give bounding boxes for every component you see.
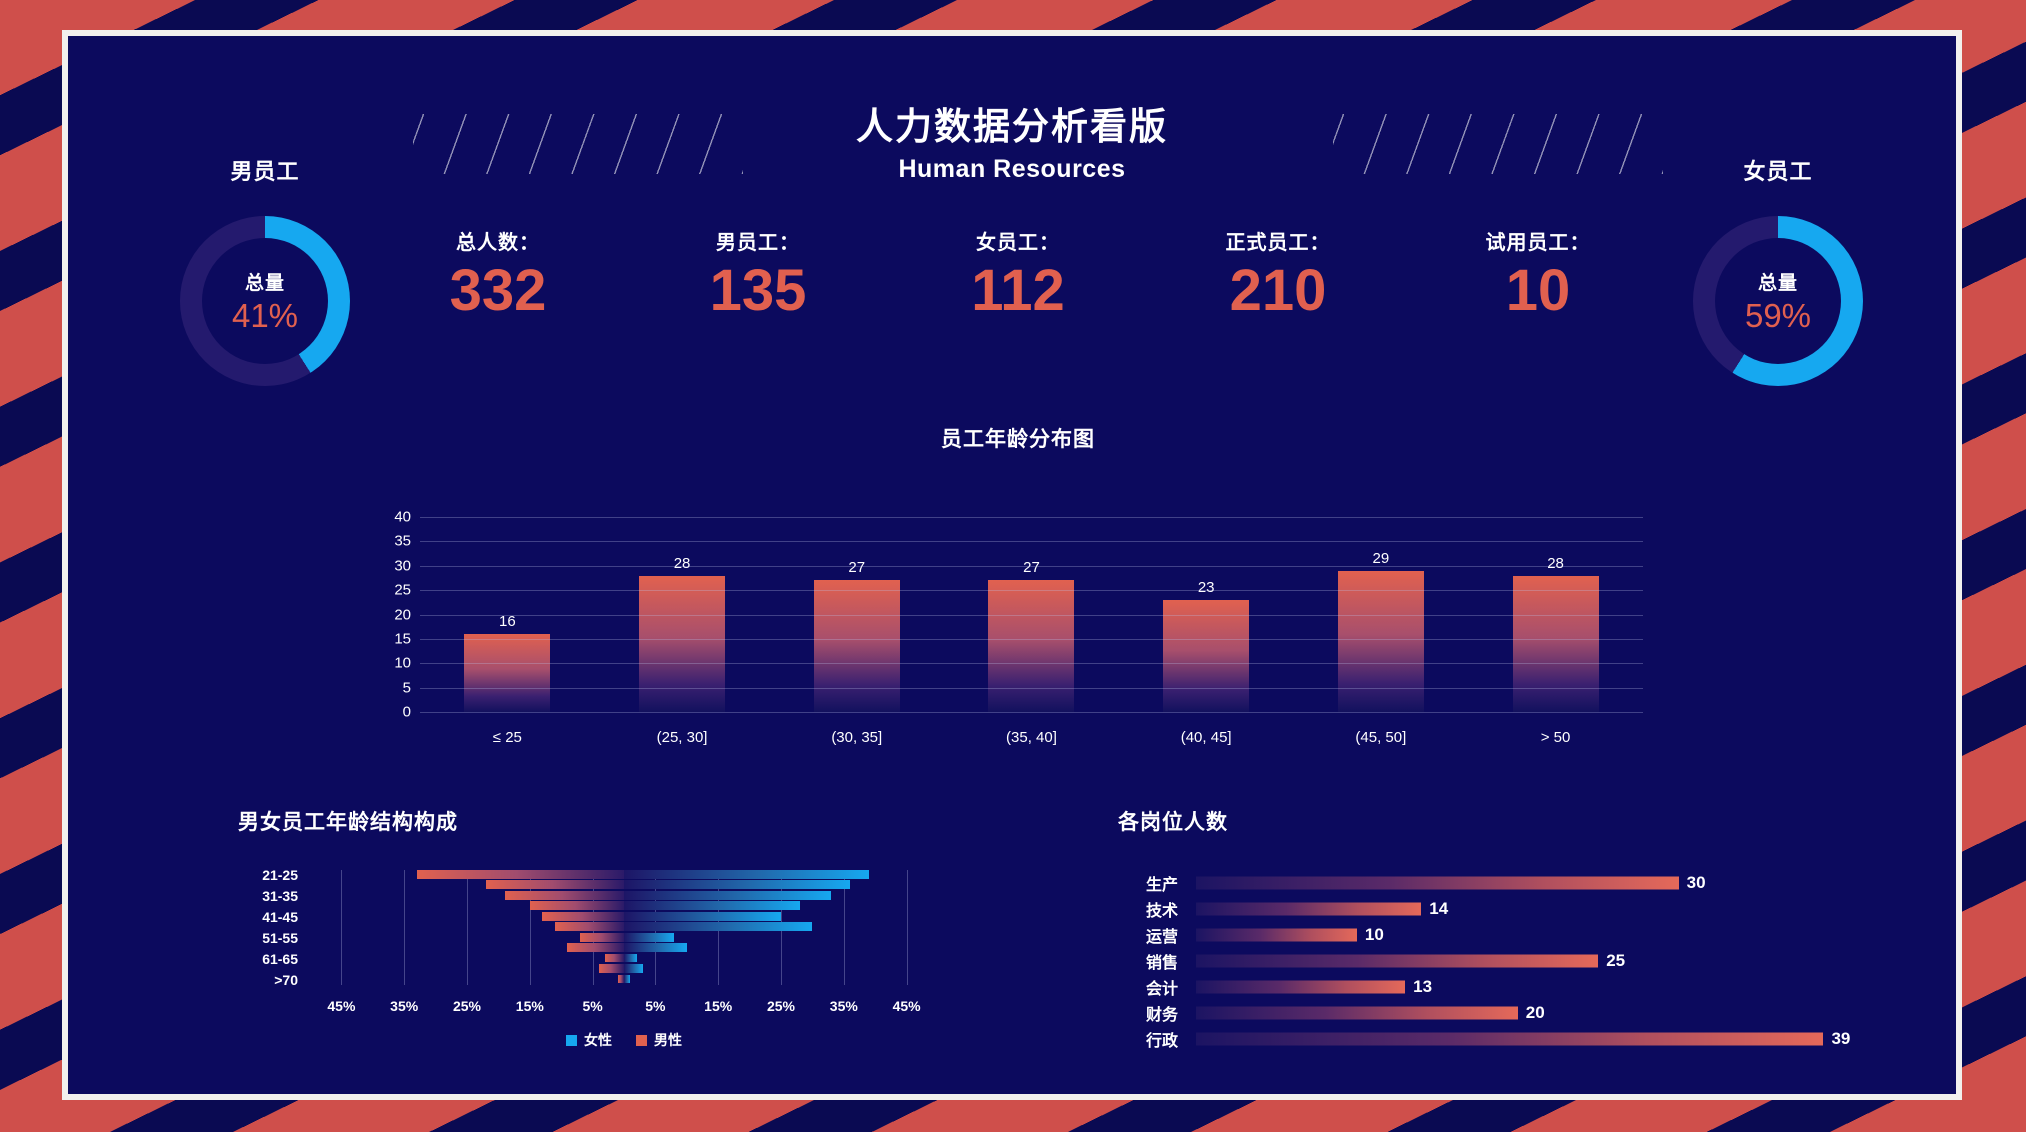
jobs-bar-value: 10 [1365, 925, 1384, 945]
age-chart-bar-value: 23 [1139, 579, 1274, 596]
jobs-row: 技术14 [1118, 896, 1878, 922]
age-chart-bar[interactable] [988, 580, 1074, 712]
age-chart-x-label: (25, 30] [615, 729, 750, 746]
age-chart-y-tick: 25 [394, 582, 411, 599]
pyramid-legend-item[interactable]: 男性 [636, 1030, 682, 1050]
kpi-item-3: 正式员工：210 [1148, 226, 1408, 323]
jobs-bar-value: 13 [1413, 977, 1432, 997]
age-chart-bar[interactable] [639, 576, 725, 713]
age-chart-y-tick: 20 [394, 606, 411, 623]
pyramid-x-tick: 35% [830, 998, 858, 1014]
pyramid-bar-female[interactable] [624, 891, 831, 900]
age-structure-pyramid: 男女员工年龄结构构成 21-2531-3541-4551-5561-65>70 … [238, 806, 938, 985]
age-chart-x-label: (45, 50] [1314, 729, 1449, 746]
jobs-title: 各岗位人数 [1118, 806, 1878, 836]
pyramid-row [310, 891, 938, 900]
pyramid-row-label: 51-55 [262, 930, 298, 946]
age-chart-x-label: > 50 [1488, 729, 1623, 746]
jobs-bar-track: 14 [1196, 896, 1878, 922]
legend-label: 女性 [584, 1030, 612, 1050]
pyramid-x-tick: 15% [704, 998, 732, 1014]
jobs-bar-value: 20 [1526, 1003, 1545, 1023]
gauge-male-value: 41% [232, 297, 298, 335]
pyramid-bar-male[interactable] [567, 943, 624, 952]
age-chart-bar[interactable] [1513, 576, 1599, 713]
jobs-bar[interactable] [1196, 903, 1421, 916]
pyramid-plot [310, 870, 938, 985]
age-chart-bar-value: 28 [615, 555, 750, 572]
age-chart-x-label: (35, 40] [964, 729, 1099, 746]
pyramid-row-label: 21-25 [262, 867, 298, 883]
jobs-row: 销售25 [1118, 948, 1878, 974]
jobs-category-label: 财务 [1118, 1001, 1178, 1025]
kpi-value: 112 [888, 259, 1148, 323]
jobs-bar-track: 10 [1196, 922, 1878, 948]
jobs-bar-track: 30 [1196, 870, 1878, 896]
pyramid-bar-female[interactable] [624, 975, 630, 984]
jobs-bar[interactable] [1196, 1033, 1823, 1046]
pyramid-bar-female[interactable] [624, 912, 781, 921]
gauge-male-title: 男员工 [150, 154, 380, 186]
pyramid-row [310, 922, 938, 931]
pyramid-row [310, 870, 938, 879]
pyramid-title: 男女员工年龄结构构成 [238, 806, 938, 836]
kpi-item-1: 男员工：135 [628, 226, 888, 323]
pyramid-body: 21-2531-3541-4551-5561-65>70 45%35%25%15… [238, 870, 938, 985]
pyramid-legend: 女性男性 [310, 1030, 938, 1050]
pyramid-row [310, 943, 938, 952]
age-chart-bar-value: 29 [1314, 550, 1449, 567]
jobs-bar[interactable] [1196, 981, 1405, 994]
jobs-bar-value: 14 [1429, 899, 1448, 919]
pyramid-row [310, 933, 938, 942]
age-chart-x-label: (40, 45] [1139, 729, 1274, 746]
legend-label: 男性 [654, 1030, 682, 1050]
kpi-label: 总人数： [368, 226, 628, 255]
pyramid-bar-female[interactable] [624, 954, 637, 963]
jobs-row: 行政39 [1118, 1026, 1878, 1052]
legend-swatch [636, 1035, 647, 1046]
pyramid-row [310, 912, 938, 921]
kpi-row: 总人数：332男员工：135女员工：112正式员工：210试用员工：10 [368, 226, 1668, 323]
age-chart-bar-value: 27 [790, 559, 925, 576]
pyramid-row [310, 901, 938, 910]
pyramid-bar-male[interactable] [505, 891, 624, 900]
pyramid-x-tick: 25% [767, 998, 795, 1014]
pyramid-row-labels: 21-2531-3541-4551-5561-65>70 [238, 870, 298, 985]
age-chart-gridline [420, 566, 1643, 567]
pyramid-row [310, 964, 938, 973]
kpi-item-0: 总人数：332 [368, 226, 628, 323]
kpi-value: 210 [1148, 259, 1408, 323]
pyramid-row [310, 954, 938, 963]
jobs-bar-value: 39 [1831, 1029, 1850, 1049]
pyramid-x-axis: 45%35%25%15%5%5%15%25%35%45% [310, 998, 938, 1020]
gauge-female-ring: 总量 59% [1693, 216, 1863, 386]
age-chart-bar[interactable] [464, 634, 550, 712]
kpi-value: 135 [628, 259, 888, 323]
jobs-bar[interactable] [1196, 929, 1357, 942]
jobs-bar-track: 25 [1196, 948, 1878, 974]
age-chart-bar[interactable] [1338, 571, 1424, 712]
pyramid-row [310, 975, 938, 984]
age-distribution-chart: 员工年龄分布图 16≤ 2528(25, 30]27(30, 35]27(35,… [368, 461, 1668, 711]
pyramid-bar-male[interactable] [599, 964, 624, 973]
kpi-label: 女员工： [888, 226, 1148, 255]
age-chart-x-label: (30, 35] [790, 729, 925, 746]
pyramid-bar-male[interactable] [555, 922, 624, 931]
gauge-female-value: 59% [1745, 297, 1811, 335]
pyramid-bar-female[interactable] [624, 933, 674, 942]
pyramid-row [310, 880, 938, 889]
jobs-bar[interactable] [1196, 877, 1679, 890]
gauge-female-label: 总量 [1758, 268, 1798, 295]
kpi-label: 正式员工： [1148, 226, 1408, 255]
age-chart-y-tick: 0 [403, 704, 411, 721]
jobs-bar-value: 25 [1606, 951, 1625, 971]
gauge-female-title: 女员工 [1663, 154, 1893, 186]
age-chart-gridline [420, 541, 1643, 542]
age-chart-y-tick: 5 [403, 679, 411, 696]
pyramid-x-tick: 5% [645, 998, 665, 1014]
jobs-headcount-chart: 各岗位人数 生产30技术14运营10销售25会计13财务20行政39 [1118, 806, 1878, 1052]
gauge-male-label: 总量 [245, 268, 285, 295]
age-chart-gridline [420, 615, 1643, 616]
jobs-category-label: 会计 [1118, 975, 1178, 999]
kpi-item-2: 女员工：112 [888, 226, 1148, 323]
jobs-category-label: 行政 [1118, 1027, 1178, 1051]
jobs-bar-value: 30 [1687, 873, 1706, 893]
pyramid-bar-male[interactable] [580, 933, 624, 942]
pyramid-bar-female[interactable] [624, 870, 869, 879]
pyramid-x-tick: 45% [893, 998, 921, 1014]
age-chart-bar[interactable] [814, 580, 900, 712]
age-chart-gridline [420, 639, 1643, 640]
jobs-bar-track: 20 [1196, 1000, 1878, 1026]
pyramid-x-tick: 45% [327, 998, 355, 1014]
pyramid-bar-male[interactable] [605, 954, 624, 963]
pyramid-x-tick: 35% [390, 998, 418, 1014]
age-chart-gridline [420, 590, 1643, 591]
pyramid-bar-male[interactable] [417, 870, 624, 879]
pyramid-row-label: 31-35 [262, 888, 298, 904]
jobs-bar-track: 13 [1196, 974, 1878, 1000]
legend-swatch [566, 1035, 577, 1046]
gauge-female-employees: 女员工 总量 59% [1663, 154, 1893, 386]
pyramid-x-tick: 5% [582, 998, 602, 1014]
age-chart-bar-value: 28 [1488, 555, 1623, 572]
pyramid-x-tick: 25% [453, 998, 481, 1014]
pyramid-row-label: >70 [274, 972, 298, 988]
kpi-label: 男员工： [628, 226, 888, 255]
age-chart-bar[interactable] [1163, 600, 1249, 712]
jobs-category-label: 运营 [1118, 923, 1178, 947]
jobs-row: 财务20 [1118, 1000, 1878, 1026]
age-chart-y-tick: 10 [394, 655, 411, 672]
age-chart-gridline [420, 663, 1643, 664]
jobs-category-label: 技术 [1118, 897, 1178, 921]
pyramid-legend-item[interactable]: 女性 [566, 1030, 612, 1050]
age-chart-title: 员工年龄分布图 [368, 423, 1668, 453]
jobs-bar-track: 39 [1196, 1026, 1878, 1052]
jobs-body: 生产30技术14运营10销售25会计13财务20行政39 [1118, 870, 1878, 1052]
jobs-row: 运营10 [1118, 922, 1878, 948]
pyramid-bar-male[interactable] [530, 901, 624, 910]
kpi-value: 10 [1408, 259, 1668, 323]
pyramid-x-tick: 15% [516, 998, 544, 1014]
pyramid-bar-female[interactable] [624, 901, 800, 910]
age-chart-y-tick: 35 [394, 533, 411, 550]
kpi-value: 332 [368, 259, 628, 323]
age-chart-y-tick: 30 [394, 557, 411, 574]
pyramid-row-label: 41-45 [262, 909, 298, 925]
age-chart-gridline [420, 688, 1643, 689]
kpi-label: 试用员工： [1408, 226, 1668, 255]
pyramid-bar-male[interactable] [542, 912, 624, 921]
kpi-item-4: 试用员工：10 [1408, 226, 1668, 323]
jobs-category-label: 生产 [1118, 871, 1178, 895]
age-chart-bar-value: 27 [964, 559, 1099, 576]
age-chart-gridline [420, 517, 1643, 518]
age-chart-y-tick: 15 [394, 630, 411, 647]
pyramid-bar-female[interactable] [624, 922, 812, 931]
age-chart-y-tick: 40 [394, 509, 411, 526]
dashboard-panel: 人力数据分析看版 Human Resources 男员工 总量 41% 女员工 … [62, 30, 1962, 1100]
pyramid-bar-female[interactable] [624, 880, 850, 889]
jobs-bar[interactable] [1196, 1007, 1518, 1020]
age-chart-gridline [420, 712, 1643, 713]
age-chart-plot: 16≤ 2528(25, 30]27(30, 35]27(35, 40]23(4… [420, 517, 1643, 712]
pyramid-bar-male[interactable] [486, 880, 624, 889]
pyramid-bar-female[interactable] [624, 943, 687, 952]
age-chart-bar-value: 16 [440, 613, 575, 630]
age-chart-x-label: ≤ 25 [440, 729, 575, 746]
page-title: 人力数据分析看版 [68, 104, 1956, 150]
jobs-category-label: 销售 [1118, 949, 1178, 973]
pyramid-row-label: 61-65 [262, 951, 298, 967]
jobs-bar[interactable] [1196, 955, 1598, 968]
gauge-male-employees: 男员工 总量 41% [150, 154, 380, 386]
jobs-row: 生产30 [1118, 870, 1878, 896]
jobs-row: 会计13 [1118, 974, 1878, 1000]
pyramid-bar-female[interactable] [624, 964, 643, 973]
gauge-male-ring: 总量 41% [180, 216, 350, 386]
